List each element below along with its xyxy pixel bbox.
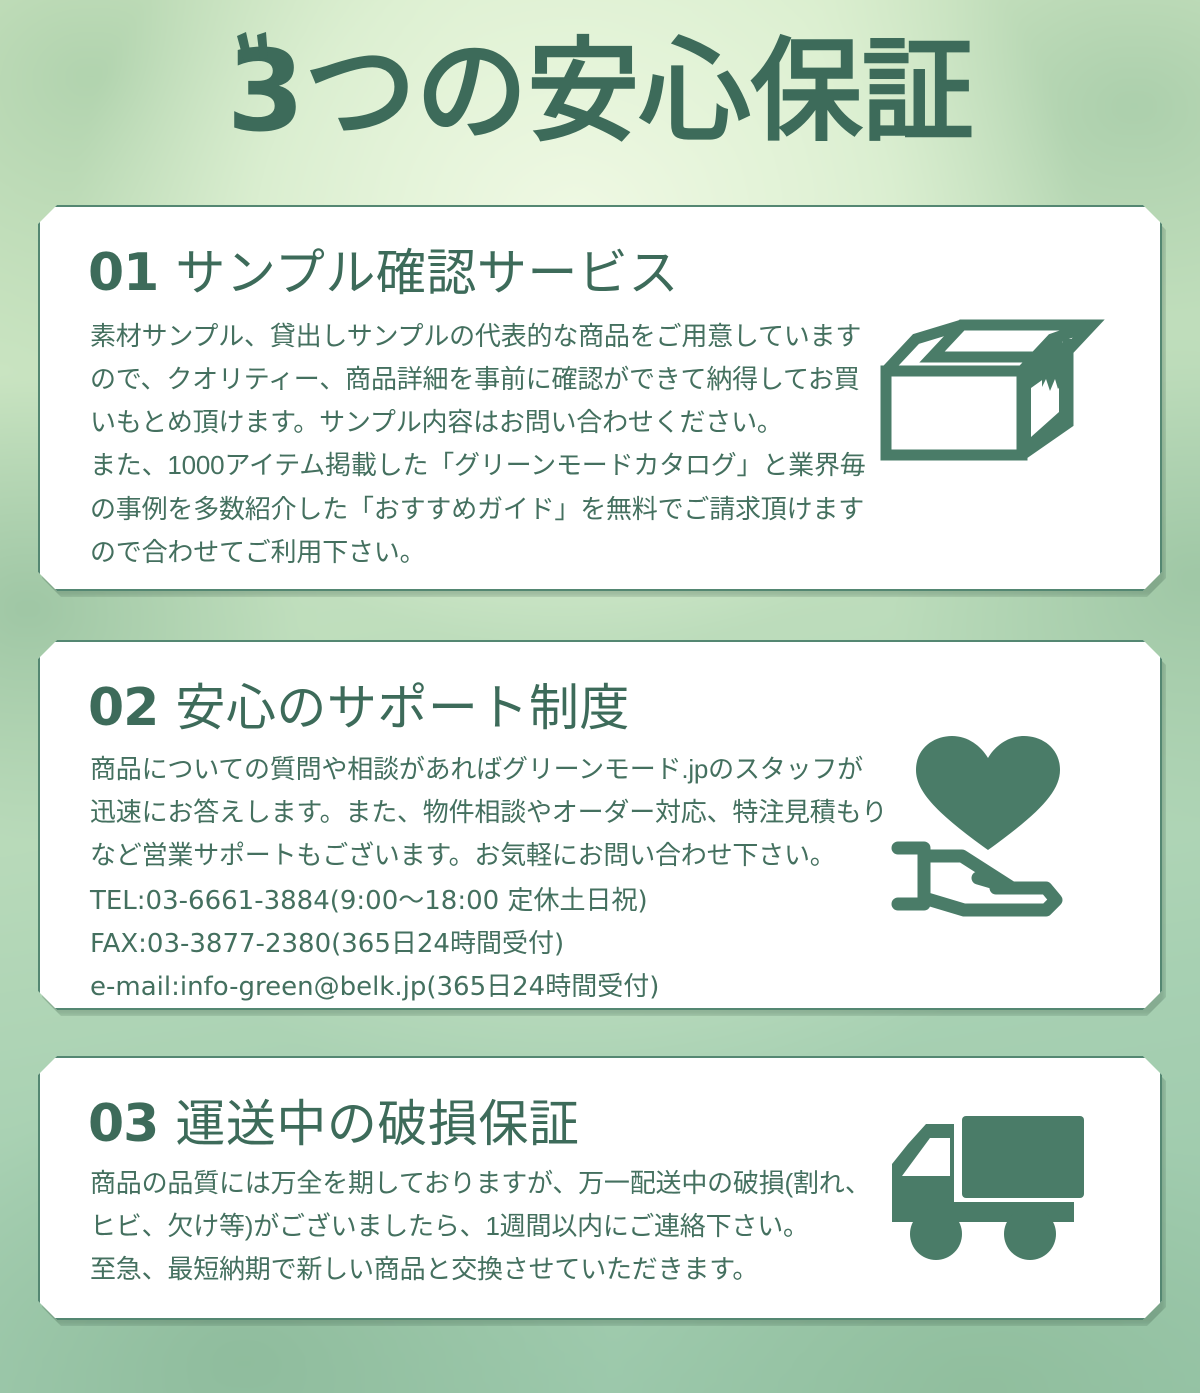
card-03-title: 運送中の破損保証 [175,1084,579,1156]
card-02-body: 商品についての質問や相談があればグリーンモード.jpのスタッフが 迅速にお答えし… [90,748,887,877]
card-02-title: 安心のサポート制度 [175,668,630,740]
page-title: 3つの安心保証 [227,26,973,158]
page-title-text: 3つの安心保証 [227,27,973,157]
guarantee-card-03: 03 運送中の破損保証 商品の品質には万全を期しておりますが、万一配送中の破損(… [38,1056,1162,1320]
card-03-heading: 03 運送中の破損保証 [88,1084,579,1156]
page-title-wrapper: 3つの安心保証 [0,26,1200,158]
card-02-number: 02 [88,678,158,738]
guarantee-page: 3つの安心保証 01 サンプル確認サービス 素材サンプル、貸出しサンプルの代表的… [0,0,1200,1393]
guarantee-card-01: 01 サンプル確認サービス 素材サンプル、貸出しサンプルの代表的な商品をご用意し… [38,205,1162,591]
card-02-heading: 02 安心のサポート制度 [88,668,630,740]
delivery-truck-icon [878,1102,1098,1274]
card-01-number: 01 [88,243,158,303]
heart-in-hand-icon [878,728,1098,924]
card-01-body: 素材サンプル、貸出しサンプルの代表的な商品をご用意しています ので、クオリティー… [90,315,866,574]
card-01-heading: 01 サンプル確認サービス [88,233,679,305]
card-02-contact-details: TEL:03-6661-3884(9:00〜18:00 定休土日祝) FAX:0… [90,880,659,1009]
emphasis-ticks-icon [233,32,289,76]
card-03-body: 商品の品質には万全を期しておりますが、万一配送中の破損(割れ、 ヒビ、欠け等)が… [90,1162,871,1291]
guarantee-card-02: 02 安心のサポート制度 商品についての質問や相談があればグリーンモード.jpの… [38,640,1162,1010]
card-03-number: 03 [88,1094,158,1154]
card-01-title: サンプル確認サービス [175,233,679,305]
cardboard-box-icon [870,313,1108,489]
